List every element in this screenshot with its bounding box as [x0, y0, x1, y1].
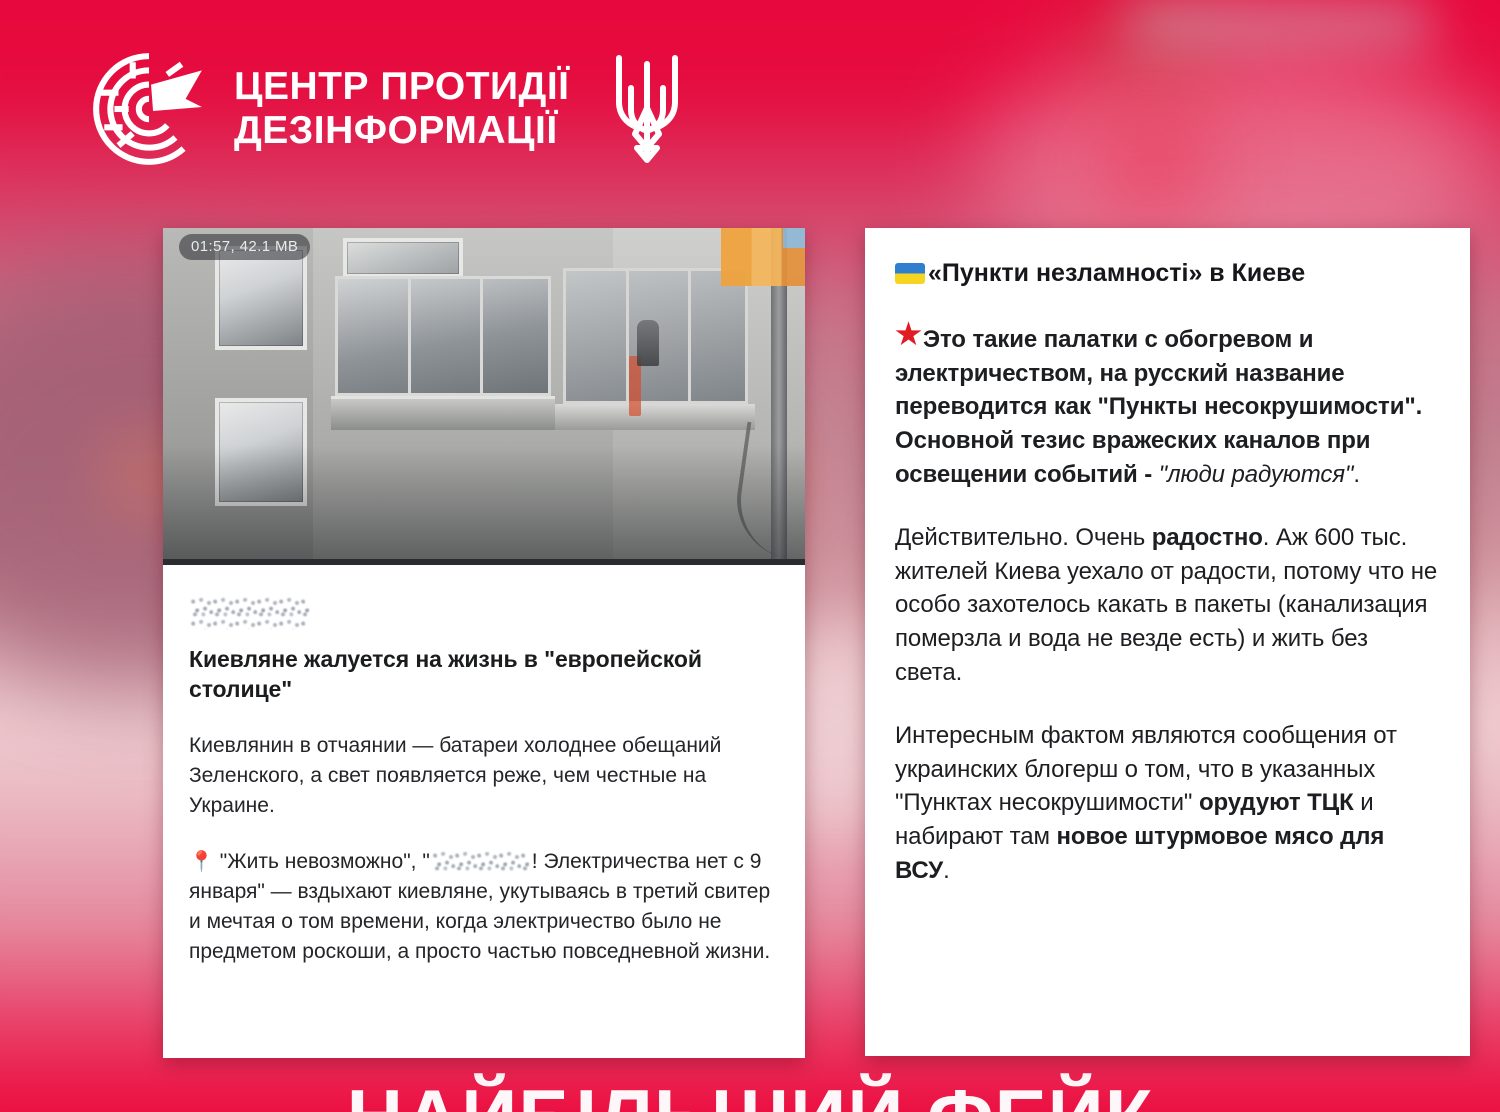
maze-arrow-logo-icon [88, 48, 210, 170]
redacted-source-label [191, 595, 309, 629]
ukraine-flag-icon [895, 263, 925, 284]
right-card-body: «Пункти незламності» в Киеве Это такие п… [865, 228, 1470, 913]
right-card-title-row: «Пункти незламності» в Киеве [895, 258, 1440, 289]
redacted-name [433, 849, 529, 873]
p2-bold-1: радостно [1152, 524, 1263, 551]
p2-part-1: Действительно. Очень [895, 524, 1152, 551]
brand-name: ЦЕНТР ПРОТИДІЇ ДЕЗІНФОРМАЦІЇ [234, 65, 569, 152]
poster-canvas: ЦЕНТР ПРОТИДІЇ ДЕЗІНФОРМАЦІЇ [0, 0, 1500, 1112]
p3-part-3: . [943, 857, 950, 884]
p1-italic: "люди радуются" [1159, 461, 1354, 488]
p1-part-2: . [1353, 461, 1360, 488]
p3-bold-1: орудуют ТЦК [1199, 789, 1354, 816]
bottom-banner-text: НАЙБІЛЬШИЙ ФЕЙК [347, 1072, 1154, 1112]
left-post-card[interactable]: 01:57, 42.1 MB Киевляне жалуется на жизн… [163, 228, 805, 1058]
left-card-paragraph-1: Киевлянин в отчаянии — батареи холоднее … [189, 731, 777, 821]
right-post-card[interactable]: «Пункти незламності» в Киеве Это такие п… [865, 228, 1470, 1056]
right-card-paragraph-3: Интересным фактом являются сообщения от … [895, 719, 1440, 887]
right-card-title: «Пункти незламності» в Киеве [928, 258, 1305, 289]
video-duration-size-badge: 01:57, 42.1 MB [179, 234, 310, 260]
bottom-banner: НАЙБІЛЬШИЙ ФЕЙК [0, 1052, 1500, 1112]
right-card-paragraph-2: Действительно. Очень радостно. Аж 600 ты… [895, 521, 1440, 689]
pixelated-censor-block [721, 228, 805, 286]
left-card-headline: Киевляне жалуется на жизнь в "европейско… [189, 645, 777, 705]
left-card-quote-paragraph: 📍 "Жить невозможно", "! Электричества не… [189, 847, 777, 967]
ukraine-trident-icon [607, 48, 687, 170]
red-star-icon [895, 321, 922, 347]
video-still-image [163, 228, 805, 565]
right-card-paragraph-1: Это такие палатки с обогревом и электрич… [895, 319, 1440, 491]
quote-before: "Жить невозможно", " [220, 850, 430, 873]
video-thumbnail[interactable]: 01:57, 42.1 MB [163, 228, 805, 565]
left-card-body: Киевляне жалуется на жизнь в "европейско… [163, 565, 805, 993]
brand-header: ЦЕНТР ПРОТИДІЇ ДЕЗІНФОРМАЦІЇ [88, 48, 687, 170]
map-pin-icon: 📍 [189, 851, 214, 873]
